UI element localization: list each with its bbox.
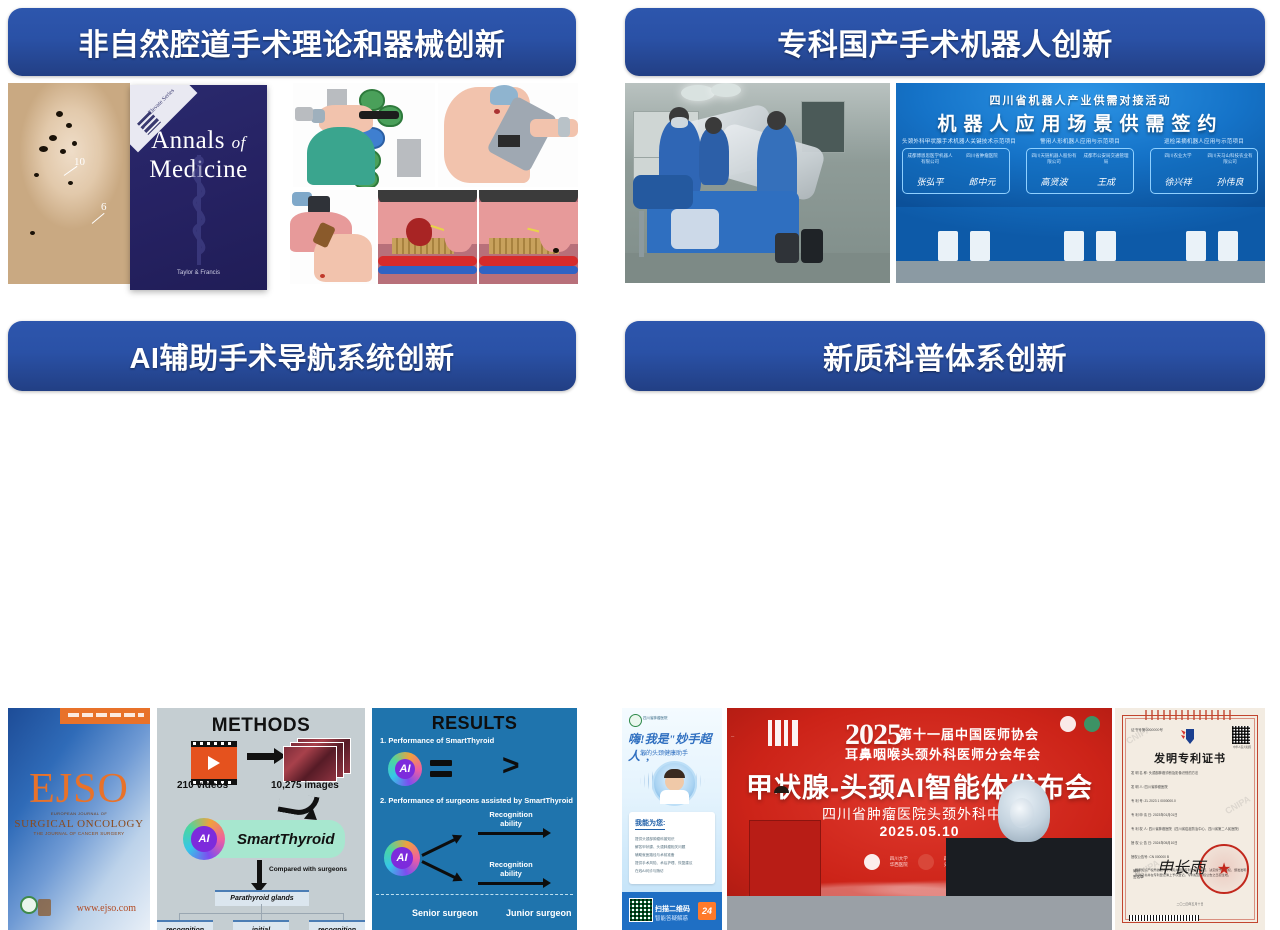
illustration-panel-3 (290, 190, 376, 284)
legend-junior-icon (478, 898, 502, 926)
illustration-panel-2 (438, 83, 578, 187)
results-item-2: 2. Performance of surgeons assisted by S… (380, 796, 573, 805)
annals-of-medicine-journal-cover: Elevate Series Annals of Medicine Taylor… (130, 85, 267, 290)
speaker-figure (761, 786, 801, 830)
ejso-url: www.ejso.com (77, 903, 136, 914)
poster-card-title: 我能为您: (635, 818, 665, 830)
ai-badge-label: AI (191, 826, 216, 851)
ejso-subtitle: SURGICAL ONCOLOGY (8, 818, 150, 830)
conference-release-photo: 2025 第十一届中国医师协会 耳鼻咽喉头颈外科医师分会年会 甲状腺-头颈AI智… (727, 708, 1112, 930)
poster-info-card: 我能为您: 提供头颈部肿瘤科普知识 解答甲状腺、头颈肿瘤相关问题 辅助就医路径与… (629, 812, 715, 884)
surgical-illustration-grid (290, 83, 578, 284)
signing-signature-2-left: 高贤波 (1031, 175, 1077, 188)
signing-column-3: 巡检采摘机器人应用与示范项目 四川农业大学 四川天马山科技农业有限公司 徐兴祥 … (1150, 137, 1258, 194)
patent-field-1: 发 明 名 称: 头颈部肿瘤诊断及影像识别的方法 (1131, 770, 1249, 775)
poster-card-item-1: 提供头颈部肿瘤科普知识 (635, 837, 709, 842)
signing-column-2: 警用人形机器人应用与示范项目 四川天链机器人股份有限公司 成都市公安局交通管理局… (1026, 137, 1134, 194)
slide-board: 非自然腔道手术理论和器械创新 10 6 Elevate Series Annal… (0, 0, 1280, 625)
signing-caption-2: 警用人形机器人应用与示范项目 (1026, 137, 1134, 145)
poster-scan-label: 扫描二维码 (655, 904, 690, 914)
official-seal-icon: ★ (1199, 844, 1249, 894)
signing-signature-1-right: 郎中元 (959, 175, 1005, 188)
poster-org-label: 四川省肿瘤医院 (643, 716, 668, 721)
signing-signature-1-left: 张弘平 (907, 175, 953, 188)
senior-surgeon-icon-1 (460, 748, 494, 790)
banner-top-right[interactable]: 专科国产手术机器人创新 (625, 8, 1265, 76)
panel-top-left: 非自然腔道手术理论和器械创新 10 6 Elevate Series Annal… (0, 0, 600, 312)
poster-card-item-5: 在线AI问诊与随访 (635, 869, 709, 874)
legend-senior-icon (382, 898, 406, 926)
skyline-icon (765, 714, 801, 746)
results-figure: RESULTS 1. Performance of SmartThyroid A… (372, 708, 577, 930)
outcome-box-2: initial recognition time (233, 920, 289, 930)
hospital-logo-icon (629, 714, 642, 727)
signing-headline-large: 机器人应用场景供需签约 (896, 109, 1265, 136)
signing-headline-small: 四川省机器人产业供需对接活动 (896, 92, 1265, 108)
recognition-ability-label-1: Recognitionability (480, 810, 542, 828)
signing-org-1-left: 成都博恩思医学机器人有限公司 (907, 153, 953, 165)
patent-title: 发明专利证书 (1115, 750, 1265, 766)
signing-org-1-right: 四川省肿瘤医院 (959, 153, 1005, 159)
banner-title-top-left: 非自然腔道手术理论和器械创新 (79, 20, 506, 64)
cover-title-italic: of (232, 133, 246, 152)
ai-blob-icon-results-1: AI (388, 752, 422, 786)
compare-note: Compared with surgeons (269, 866, 347, 873)
poster-card-item-4: 提供手术风险、术后护理、恢复建议 (635, 861, 709, 866)
poster-headline: 嗨!我是"妙手超人", (628, 730, 722, 764)
senior-surgeon-icon-2 (438, 808, 472, 850)
anatomical-specimen-photo: 10 6 (8, 83, 130, 284)
outcome-box-1: recognition rates (157, 920, 213, 930)
cover-publisher: Taylor & Francis (130, 269, 267, 277)
outcome-box-3: recognition duration (309, 920, 365, 930)
banner-title-bottom-right: 新质科普体系创新 (823, 334, 1067, 378)
robot-industry-signing-ceremony-photo: 四川省机器人产业供需对接活动 机器人应用场景供需签约 头颈外科甲状腺手术机器人关… (896, 83, 1265, 283)
poster-card-item-2: 解答甲状腺、头颈肿瘤相关问题 (635, 845, 709, 850)
health-science-vertical-poster: 四川省肿瘤医院 嗨!我是"妙手超人", 您的头颈健康助手 我能为您: 提供头颈部… (622, 708, 722, 930)
signing-caption-3: 巡检采摘机器人应用与示范项目 (1150, 137, 1258, 145)
specimen-label-6: 6 (101, 201, 107, 213)
images-count-label: 10,275 images (271, 780, 339, 791)
junior-surgeon-icon-1 (528, 748, 562, 790)
illustration-panel-4 (378, 190, 477, 284)
methods-heading: METHODS (157, 715, 365, 737)
results-item-1: 1. Performance of SmartThyroid (380, 736, 494, 745)
patent-field-2: 发 明 人: 四川省肿瘤医院 (1131, 784, 1249, 789)
poster-subhead: 您的头颈健康助手 (640, 748, 688, 757)
illustration-panel-5 (479, 190, 578, 284)
results-heading: RESULTS (372, 713, 577, 734)
signing-column-1: 头颈外科甲状腺手术机器人关键技术示范项目 成都博恩思医学机器人有限公司 四川省肿… (902, 137, 1010, 194)
qr-code-icon (629, 898, 653, 922)
legend-senior-label: Senior surgeon (412, 908, 478, 918)
panel-bottom-left: AI辅助手术导航系统创新 EJSO EUROPEAN JOURNAL OF SU… (0, 312, 600, 625)
poster-card-item-3: 辅助就医路径与术前准备 (635, 853, 709, 858)
banner-top-left[interactable]: 非自然腔道手术理论和器械创新 (8, 8, 576, 76)
bass-logo-icon (38, 899, 51, 916)
poster-24h-badge: 24 (698, 902, 716, 920)
signing-signature-3-right: 孙伟良 (1207, 175, 1253, 188)
signing-org-2-right: 成都市公安局交通管理局 (1083, 153, 1129, 165)
invention-patent-certificate: 证书号第0000000号 中华人民共和国 发明专利证书 发 明 名 称: 头颈部… (1115, 708, 1265, 930)
ai-badge-label-2: AI (391, 847, 413, 869)
video-film-icon (191, 741, 237, 785)
patent-signature: 申长雨 (1157, 854, 1205, 878)
target-label: Parathyroid glands (215, 890, 309, 906)
ai-blob-icon-results-2: AI (384, 840, 420, 876)
signing-org-3-left: 四川农业大学 (1155, 153, 1201, 159)
patent-field-5: 专 利 权 人: 四川省肿瘤医院（四川省癌症防治中心、四川省第二人民医院） (1131, 826, 1249, 831)
model-name-label: SmartThyroid (237, 831, 335, 848)
signing-org-3-right: 四川天马山科技农业有限公司 (1207, 153, 1253, 165)
esso-logo-icon (20, 896, 38, 914)
legend-junior-label: Junior surgeon (506, 908, 572, 918)
ai-badge-label-1: AI (395, 759, 415, 779)
cnipa-logo-icon (1179, 727, 1201, 746)
illustration-panel-1 (293, 83, 435, 187)
ejso-subtitle-small: EUROPEAN JOURNAL OF (8, 811, 150, 816)
cover-title-line1: Annals (151, 127, 225, 154)
panel-top-right: 专科国产手术机器人创新 (610, 0, 1280, 312)
avatar (652, 761, 697, 806)
signing-signature-2-right: 王成 (1083, 175, 1129, 188)
banner-bottom-right[interactable]: 新质科普体系创新 (625, 321, 1265, 391)
recognition-ability-label-2: Recognitionability (480, 860, 542, 878)
target-label-text: Parathyroid glands (230, 895, 293, 903)
statue-bust-icon (998, 780, 1050, 842)
conference-line-2: 耳鼻咽喉头颈外科医师分会年会 (845, 744, 1041, 763)
methods-figure: METHODS 210 videos 10,275 images SmartTh… (157, 708, 365, 930)
banner-title-bottom-left: AI辅助手术导航系统创新 (129, 335, 454, 377)
signing-signature-3-left: 徐兴祥 (1155, 175, 1201, 188)
patent-barcode (1129, 915, 1199, 921)
greater-than-symbol: > (502, 754, 520, 778)
patent-issue-date: 二〇二四年五月十日 (1115, 902, 1265, 906)
banner-title-top-right: 专科国产手术机器人创新 (777, 20, 1113, 64)
equals-symbol (430, 760, 452, 777)
banner-bottom-left[interactable]: AI辅助手术导航系统创新 (8, 321, 576, 391)
patent-qr-caption: 中华人民共和国 (1233, 745, 1251, 749)
ejso-subtitle-tag: THE JOURNAL OF CANCER SURGERY (8, 831, 150, 836)
caduceus-icon (178, 151, 220, 269)
signing-caption-1: 头颈外科甲状腺手术机器人关键技术示范项目 (902, 137, 1010, 145)
panel-bottom-right: 新质科普体系创新 四川省肿瘤医院 嗨!我是"妙手超人", 您的头颈健康助手 我能… (610, 312, 1280, 625)
ejso-journal-cover: EJSO EUROPEAN JOURNAL OF SURGICAL ONCOLO… (8, 708, 150, 930)
signing-org-2-left: 四川天链机器人股份有限公司 (1031, 153, 1077, 165)
operating-room-robot-photo (625, 83, 890, 283)
poster-scan-sub: 智能答疑解惑 (655, 914, 688, 922)
videos-count-label: 210 videos (177, 780, 228, 791)
patent-qr-icon (1232, 726, 1250, 744)
ai-blob-icon: AI (183, 818, 225, 860)
ejso-title: EJSO (8, 768, 150, 810)
